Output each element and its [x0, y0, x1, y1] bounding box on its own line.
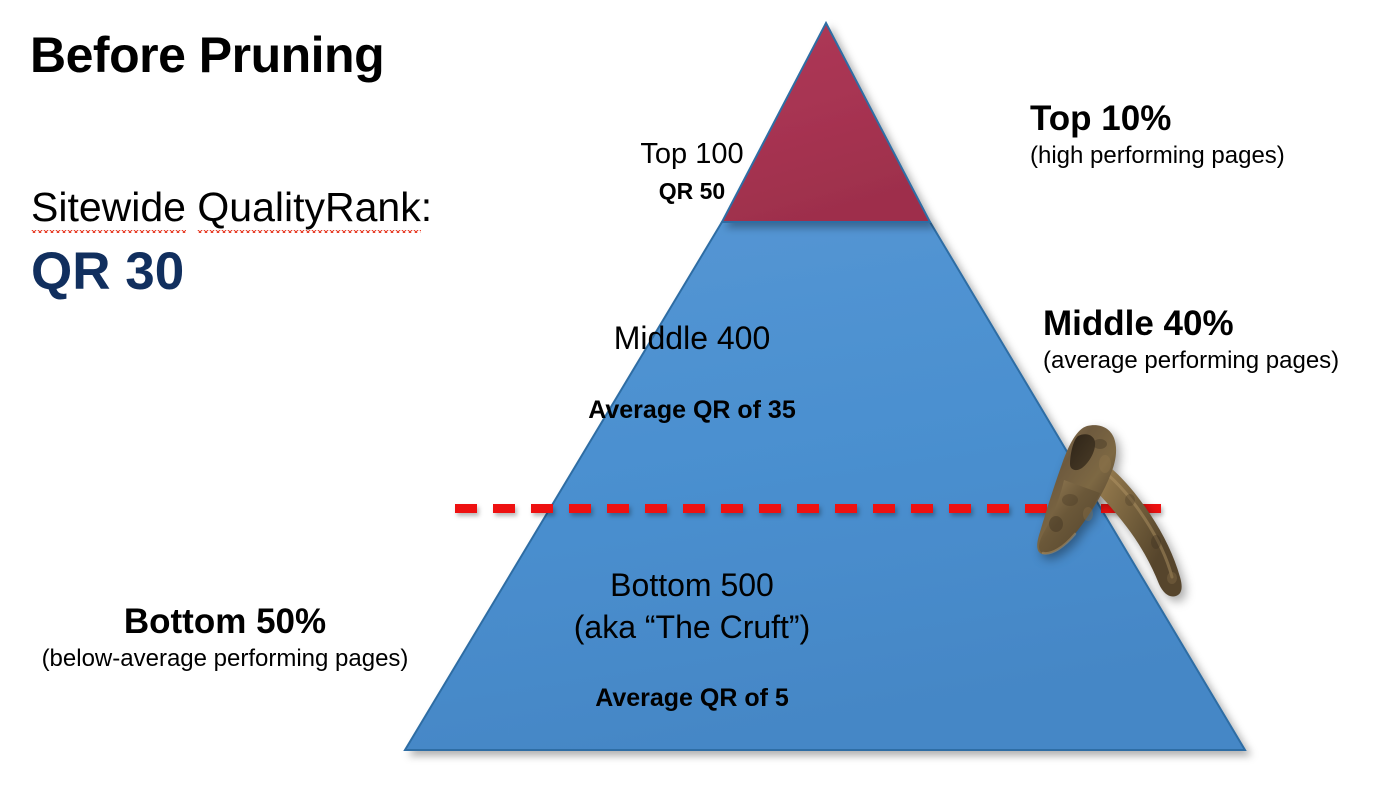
axe-icon	[1030, 414, 1220, 614]
callout-middle-40-sub: (average performing pages)	[1043, 347, 1339, 375]
callout-middle-40-head: Middle 40%	[1043, 304, 1339, 344]
callout-top-10-sub: (high performing pages)	[1030, 142, 1285, 170]
callout-top-10-head: Top 10%	[1030, 99, 1285, 139]
callout-top-10: Top 10% (high performing pages)	[1030, 99, 1285, 170]
callout-middle-40: Middle 40% (average performing pages)	[1043, 304, 1339, 375]
callout-bottom-50-head: Bottom 50%	[10, 602, 440, 642]
tier-top-qr: QR 50	[0, 178, 1384, 205]
tier-bottom-qr: Average QR of 5	[0, 684, 1384, 713]
slide-canvas: Before Pruning Sitewide QualityRank: QR …	[0, 0, 1384, 785]
callout-bottom-50: Bottom 50% (below-average performing pag…	[10, 602, 440, 673]
callout-bottom-50-sub: (below-average performing pages)	[10, 645, 440, 673]
